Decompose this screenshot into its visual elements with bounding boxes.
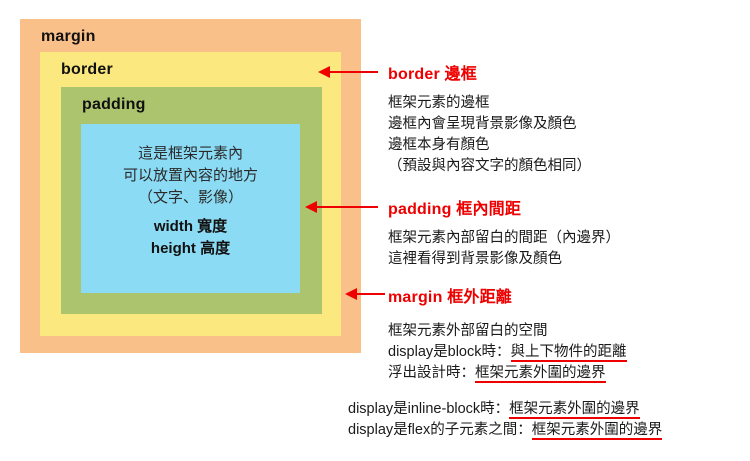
margin-annotation-line-4: display是inline-block時：框架元素外圍的邊界 <box>348 399 662 420</box>
margin-line-5-emphasis: 框架元素外圍的邊界 <box>532 422 663 440</box>
content-width-label: width 寬度 <box>81 216 300 238</box>
border-annotation-body: 框架元素的邊框 邊框內會呈現背景影像及顏色 邊框本身有顏色 （預設與內容文字的顏… <box>388 93 591 177</box>
padding-annotation-title: padding 框內間距 <box>388 195 620 219</box>
margin-box-label: margin <box>41 28 96 46</box>
margin-annotation-line-3: 浮出設計時：框架元素外圍的邊界 <box>388 363 627 384</box>
border-annotation: border 邊框 框架元素的邊框 邊框內會呈現背景影像及顏色 邊框本身有顏色 … <box>388 60 591 177</box>
margin-line-4-emphasis: 框架元素外圍的邊界 <box>509 401 640 419</box>
margin-line-2-prefix: display是block時： <box>388 344 511 360</box>
content-line-2: 可以放置內容的地方 <box>81 165 300 187</box>
margin-annotation-line-5: display是flex的子元素之間：框架元素外圍的邊界 <box>348 420 662 441</box>
margin-line-4-prefix: display是inline-block時： <box>348 401 509 417</box>
margin-annotation-line-1: 框架元素外部留白的空間 <box>388 321 627 342</box>
border-box-label: border <box>61 61 113 79</box>
margin-annotation-body: 框架元素外部留白的空間 display是block時：與上下物件的距離 浮出設計… <box>388 321 627 384</box>
arrow-to-border-icon <box>318 65 378 79</box>
arrow-to-padding-icon <box>305 200 378 214</box>
arrow-shaft <box>315 206 378 208</box>
border-annotation-line-1: 框架元素的邊框 <box>388 93 591 114</box>
margin-annotation: margin 框外距離 框架元素外部留白的空間 display是block時：與… <box>388 283 627 384</box>
arrow-shaft <box>328 71 378 73</box>
arrow-shaft <box>355 293 385 295</box>
padding-annotation-body: 框架元素內部留白的間距（內邊界） 這裡看得到背景影像及顏色 <box>388 228 620 270</box>
padding-annotation-line-1: 框架元素內部留白的間距（內邊界） <box>388 228 620 249</box>
content-box-text: 這是框架元素內 可以放置內容的地方 （文字、影像） width 寬度 heigh… <box>81 143 300 260</box>
content-text-spacer <box>81 209 300 216</box>
margin-line-3-prefix: 浮出設計時： <box>388 365 475 381</box>
border-annotation-line-4: （預設與內容文字的顏色相同） <box>388 156 591 177</box>
margin-line-5-prefix: display是flex的子元素之間： <box>348 422 532 438</box>
margin-annotation-title: margin 框外距離 <box>388 283 627 307</box>
content-height-label: height 高度 <box>81 238 300 260</box>
box-model-diagram: margin border padding 這是框架元素內 可以放置內容的地方 … <box>20 19 361 353</box>
margin-annotation-line-2: display是block時：與上下物件的距離 <box>388 342 627 363</box>
border-annotation-title: border 邊框 <box>388 60 591 84</box>
padding-box-label: padding <box>82 96 146 114</box>
margin-line-3-emphasis: 框架元素外圍的邊界 <box>475 365 606 383</box>
content-line-1: 這是框架元素內 <box>81 143 300 165</box>
border-annotation-line-2: 邊框內會呈現背景影像及顏色 <box>388 114 591 135</box>
margin-annotation-extra: display是inline-block時：框架元素外圍的邊界 display是… <box>348 399 662 441</box>
border-annotation-line-3: 邊框本身有顏色 <box>388 135 591 156</box>
padding-annotation-line-2: 這裡看得到背景影像及顏色 <box>388 249 620 270</box>
arrow-to-margin-icon <box>345 287 385 301</box>
content-line-3: （文字、影像） <box>81 187 300 209</box>
margin-line-2-emphasis: 與上下物件的距離 <box>511 344 627 362</box>
padding-annotation: padding 框內間距 框架元素內部留白的間距（內邊界） 這裡看得到背景影像及… <box>388 195 620 270</box>
